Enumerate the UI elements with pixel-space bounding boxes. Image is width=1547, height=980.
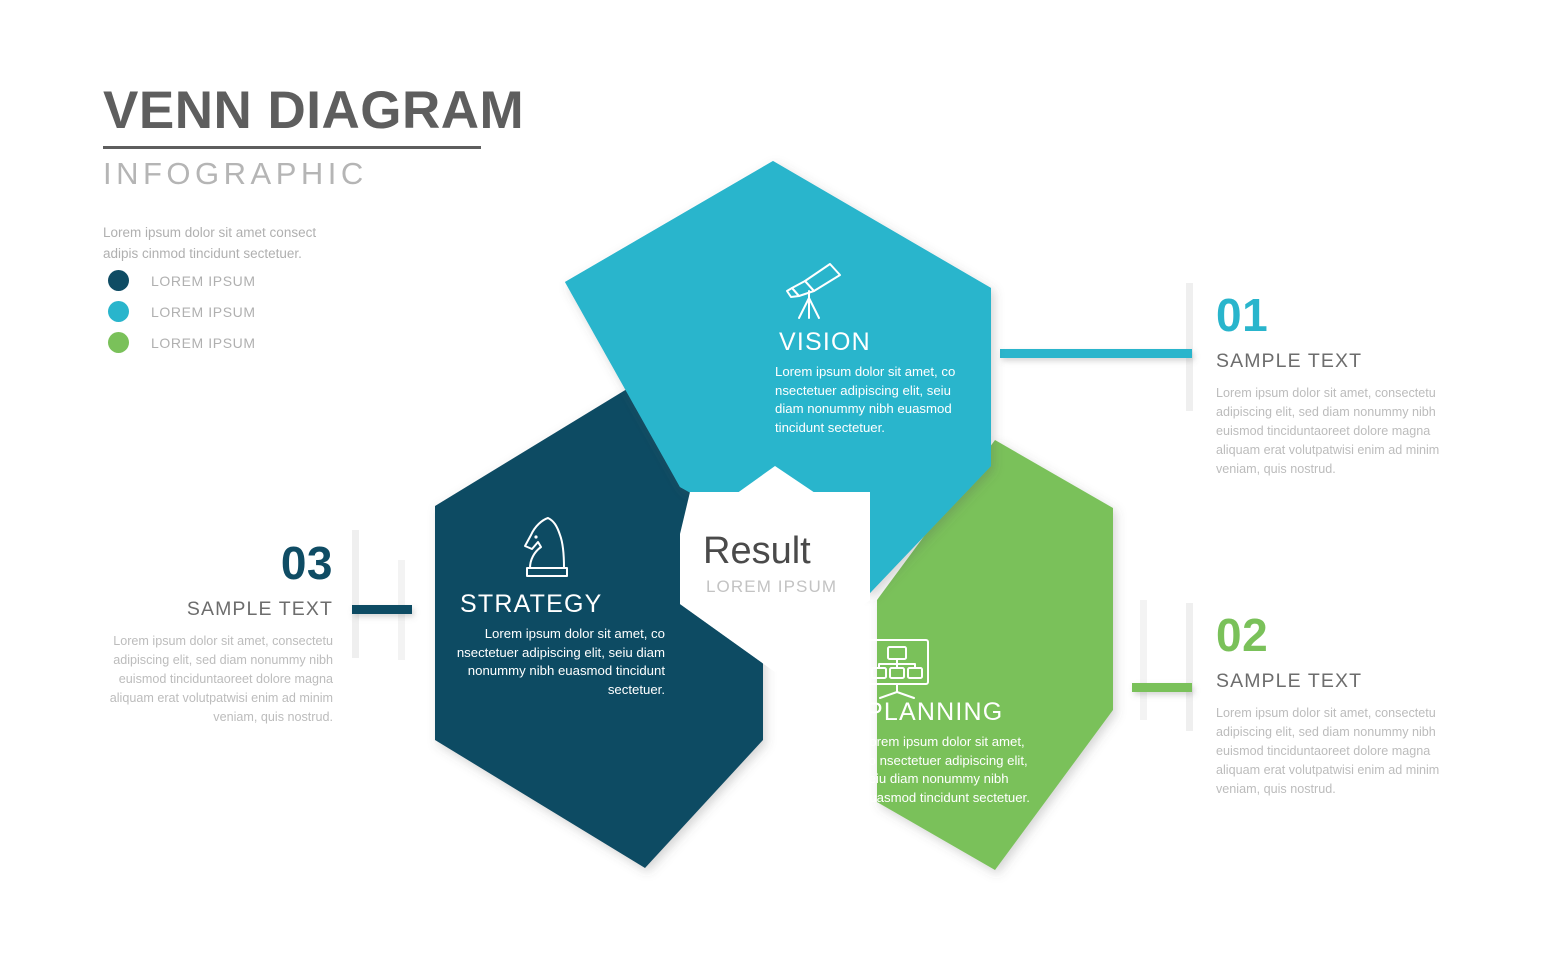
connector-shadow-02b bbox=[1140, 600, 1147, 720]
hexagon-vision-body: Lorem ipsum dolor sit amet, co nsectetue… bbox=[775, 363, 960, 438]
info-block-03: 03 SAMPLE TEXT Lorem ipsum dolor sit ame… bbox=[108, 540, 333, 726]
hexagon-strategy-body: Lorem ipsum dolor sit amet, co nsectetue… bbox=[455, 625, 665, 700]
connector-line-03 bbox=[352, 605, 412, 614]
info-heading-02: SAMPLE TEXT bbox=[1216, 670, 1448, 693]
info-number-02: 02 bbox=[1216, 612, 1448, 658]
connector-shadow-01 bbox=[1186, 283, 1193, 411]
hexagon-planning-label: PLANNING bbox=[866, 698, 1003, 726]
info-block-02: 02 SAMPLE TEXT Lorem ipsum dolor sit ame… bbox=[1216, 612, 1448, 798]
hexagon-planning-body: Lorem ipsum dolor sit amet, co nsectetue… bbox=[862, 733, 1037, 808]
info-body-01: Lorem ipsum dolor sit amet, consectetu a… bbox=[1216, 384, 1448, 478]
venn-hexagon-diagram: PLANNING Lorem ipsum dolor sit amet, co … bbox=[0, 0, 1547, 980]
info-number-03: 03 bbox=[108, 540, 333, 586]
info-number-01: 01 bbox=[1216, 292, 1448, 338]
connector-shadow-02 bbox=[1186, 603, 1193, 731]
hexagon-vision-label: VISION bbox=[779, 328, 871, 356]
info-heading-01: SAMPLE TEXT bbox=[1216, 350, 1448, 373]
info-heading-03: SAMPLE TEXT bbox=[108, 598, 333, 621]
info-block-01: 01 SAMPLE TEXT Lorem ipsum dolor sit ame… bbox=[1216, 292, 1448, 478]
infographic-canvas: VENN DIAGRAM INFOGRAPHIC Lorem ipsum dol… bbox=[0, 0, 1547, 980]
result-subtitle: LOREM IPSUM bbox=[706, 577, 837, 596]
connector-line-01 bbox=[1000, 349, 1192, 358]
info-body-02: Lorem ipsum dolor sit amet, consectetu a… bbox=[1216, 704, 1448, 798]
result-title: Result bbox=[703, 530, 811, 572]
connector-line-02 bbox=[1132, 683, 1192, 692]
info-body-03: Lorem ipsum dolor sit amet, consectetu a… bbox=[108, 632, 333, 726]
hexagon-strategy-label: STRATEGY bbox=[460, 590, 603, 618]
connector-shadow-03 bbox=[352, 530, 359, 658]
